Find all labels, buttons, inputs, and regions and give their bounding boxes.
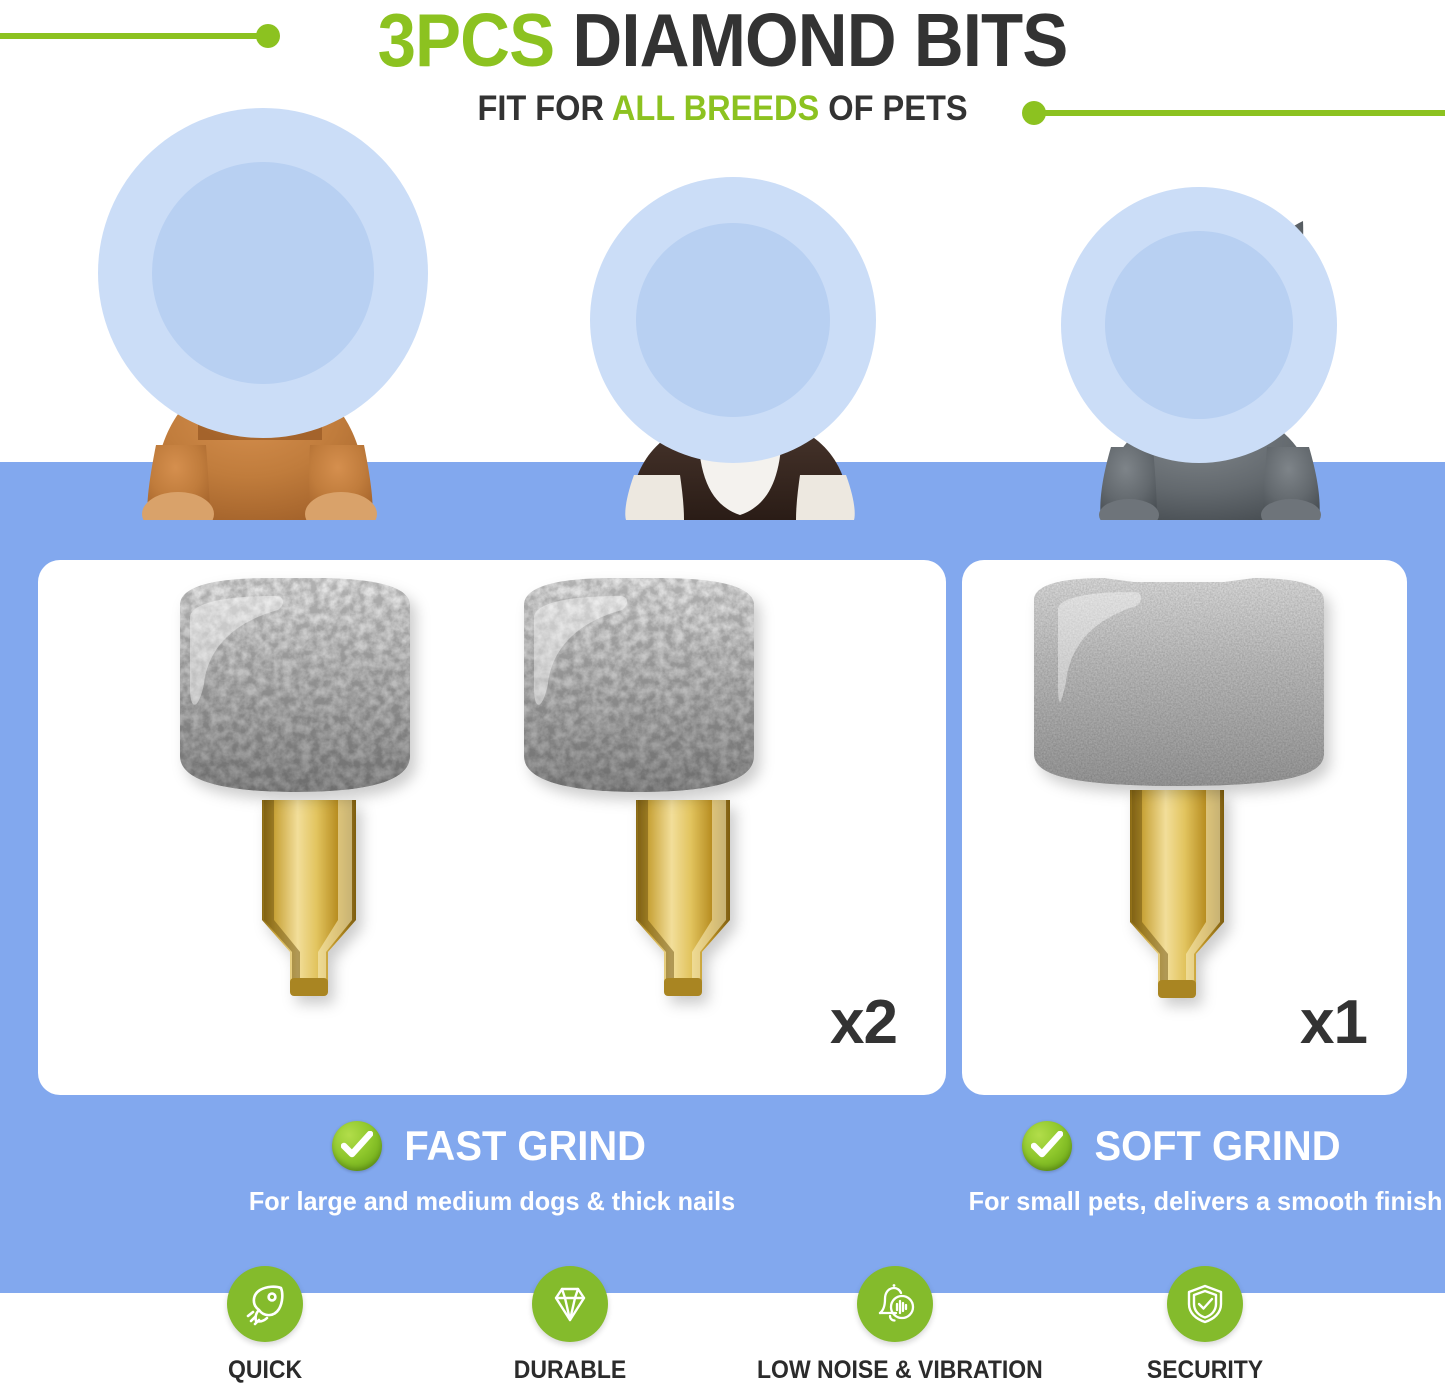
rocket-icon <box>227 1266 303 1342</box>
soft-grind-subtitle: For small pets, delivers a smooth finish <box>969 1186 1401 1217</box>
page-subtitle: FIT FOR ALL BREEDS OF PETS <box>51 88 1395 130</box>
subtitle-pre: FIT FOR <box>477 89 611 128</box>
product-infographic: x2 x1 FAST GRIND For large and medium do… <box>0 0 1445 1381</box>
quantity-badge-right: x1 <box>1300 992 1367 1054</box>
feature-security: SECURITY <box>1055 1266 1355 1385</box>
quantity-badge-left: x2 <box>830 992 897 1054</box>
pets-strip <box>0 100 1445 520</box>
pet-boston-terrier-dog <box>570 175 910 520</box>
header: 3PCS DIAMOND BITS FIT FOR ALL BREEDS OF … <box>0 0 1445 140</box>
shield-check-icon <box>1167 1266 1243 1342</box>
fast-grind-subtitle: For large and medium dogs & thick nails <box>52 1186 933 1217</box>
title-main: DIAMOND BITS <box>554 0 1067 82</box>
coarse-bits-pair-illustration <box>38 560 946 1095</box>
subtitle-post: OF PETS <box>819 89 967 128</box>
pet-vizsla-dog <box>60 100 460 520</box>
soft-grind-title: SOFT GRIND <box>1094 1122 1340 1170</box>
title-count: 3PCS <box>378 0 555 82</box>
subtitle-highlight: ALL BREEDS <box>612 89 819 128</box>
soft-grind-label-block: SOFT GRIND For small pets, delivers a sm… <box>962 1118 1407 1217</box>
feature-row: QUICK DURABLE <box>0 1266 1445 1381</box>
fast-grind-label-block: FAST GRIND For large and medium dogs & t… <box>38 1118 946 1217</box>
fast-grind-product-card <box>38 560 946 1095</box>
bell-sound-icon <box>857 1266 933 1342</box>
feature-quick: QUICK <box>120 1266 410 1385</box>
check-circle-icon <box>1022 1121 1072 1171</box>
feature-durable: DURABLE <box>425 1266 715 1385</box>
fast-grind-title: FAST GRIND <box>404 1122 646 1170</box>
diamond-icon <box>532 1266 608 1342</box>
check-circle-icon <box>332 1121 382 1171</box>
pet-russian-blue-cat <box>1045 185 1375 520</box>
page-title: 3PCS DIAMOND BITS <box>58 0 1387 82</box>
feature-low-noise: LOW NOISE & VIBRATION <box>745 1266 1045 1385</box>
